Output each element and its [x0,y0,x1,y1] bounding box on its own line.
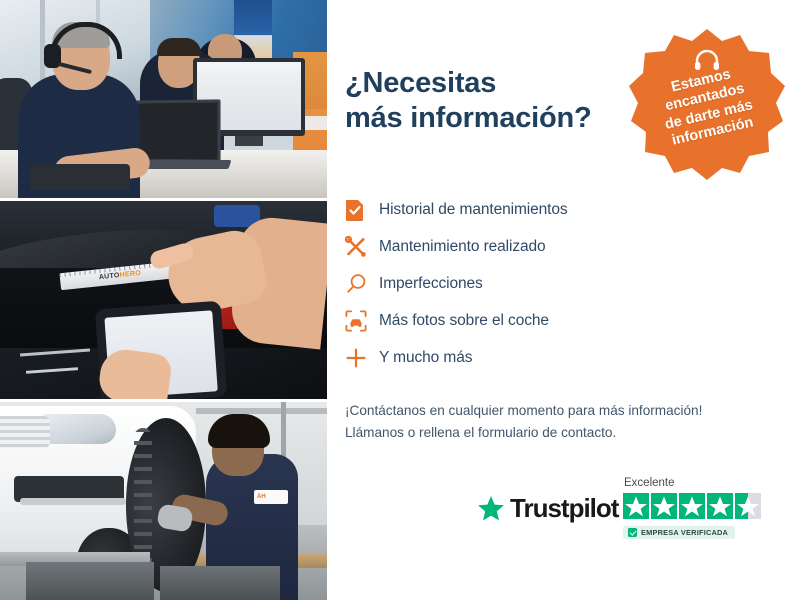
trustpilot-widget[interactable]: Trustpilot Excelente [477,477,787,547]
car-headlight [42,414,116,444]
monitor-screen-row [201,82,295,89]
feature-item-imperfecciones: Imperfecciones [345,265,675,302]
trustpilot-star-icon [477,495,505,522]
magnifier-icon [345,271,379,297]
verified-check-icon [628,528,637,537]
feature-label: Más fotos sobre el coche [379,312,549,330]
mechanic-hair [208,414,270,448]
car-inspection-photo: AUTOHERO [0,201,327,399]
headline-line-1: ¿Necesitas [345,66,645,101]
trustpilot-logo: Trustpilot [477,493,618,524]
star-2 [651,493,677,519]
star-4 [707,493,733,519]
call-center-agents-photo [0,0,327,198]
headline-line-2: más información? [345,101,645,136]
feature-label: Historial de mantenimientos [379,201,568,219]
ruler-brand-text: AUTOHERO [99,270,142,281]
document-check-icon [345,197,379,223]
agent-two-hair [157,38,201,56]
feature-list: Historial de mantenimientos Mantenimient… [345,191,675,376]
monitor-stand [235,136,263,146]
verified-company-badge: EMPRESA VERIFICADA [623,526,735,539]
car-grille [0,416,50,448]
page-title: ¿Necesitas más información? [345,66,645,137]
feature-item-fotos: Más fotos sobre el coche [345,302,675,339]
feature-item-historial: Historial de mantenimientos [345,191,675,228]
photo-column: AUTOHERO [0,0,327,600]
tablet-screen-line-2 [26,367,78,374]
desk-tablet [30,164,130,190]
verified-label: EMPRESA VERIFICADA [641,528,728,537]
crossed-tools-icon [345,234,379,260]
workshop-shelf [196,408,327,414]
contact-text: ¡Contáctanos en cualquier momento para m… [345,400,785,444]
workshop-wheel-photo: AH [0,402,327,600]
feature-label: Imperfecciones [379,275,483,293]
headset-icon [694,49,720,71]
content-panel: ¿Necesitas más información? Estamos enca… [327,0,799,600]
promo-banner: AUTOHERO [0,0,799,600]
feature-label: Mantenimiento realizado [379,238,546,256]
feature-label: Y mucho más [379,349,472,367]
car-photo-frame-icon [345,308,379,334]
tool-cabinet-2 [160,566,280,600]
star-5-half [735,493,761,519]
tool-cabinet [26,562,154,600]
star-1 [623,493,649,519]
contact-line-1: ¡Contáctanos en cualquier momento para m… [345,400,785,422]
car-front-lip [20,498,126,505]
feature-item-mas: Y mucho más [345,339,675,376]
rating-label: Excelente [624,477,675,489]
tablet-screen-line [20,349,90,357]
star-3 [679,493,705,519]
mechanic-uniform-badge: AH [254,490,288,504]
star-rating [623,493,761,519]
contact-line-2: Llámanos o rellena el formulario de cont… [345,422,785,444]
monitor-screen-bar [201,68,271,76]
plus-icon [345,345,379,371]
info-starburst-badge: Estamos encantados de darte más informac… [627,25,787,185]
feature-item-mantenimiento: Mantenimiento realizado [345,228,675,265]
trustpilot-wordmark: Trustpilot [510,493,618,524]
